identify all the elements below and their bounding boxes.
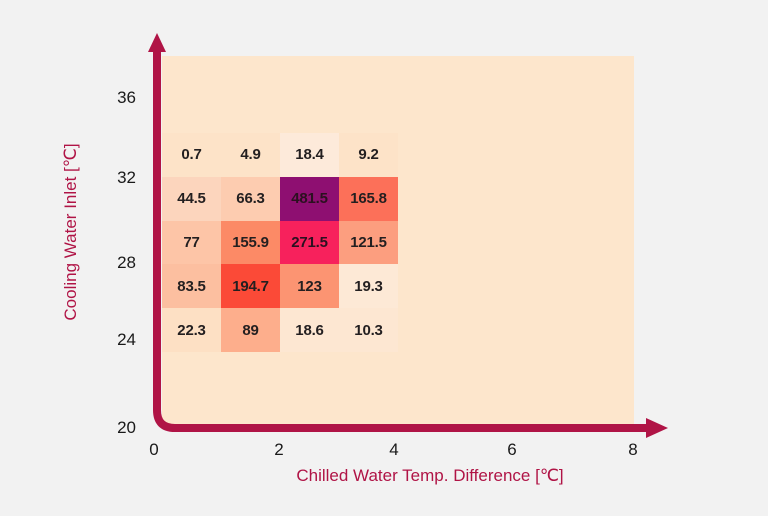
heatmap-cell: 194.7 — [221, 264, 280, 308]
cell-value: 18.6 — [295, 322, 323, 339]
heatmap-cell: 155.9 — [221, 221, 280, 265]
heatmap-cell: 121.5 — [339, 221, 398, 265]
cell-value: 9.2 — [358, 146, 378, 163]
heatmap-cell: 4.9 — [221, 133, 280, 177]
heatmap-cell: 83.5 — [162, 264, 221, 308]
cell-value: 194.7 — [232, 278, 269, 295]
heatmap-cell: 77 — [162, 221, 221, 265]
cell-value: 18.4 — [295, 146, 323, 163]
cell-value: 121.5 — [350, 234, 387, 251]
cell-value: 44.5 — [177, 190, 205, 207]
heatmap-grid: 0.7 4.9 18.4 9.2 44.5 66.3 481.5 165.8 7… — [162, 133, 398, 352]
cell-value: 19.3 — [354, 278, 382, 295]
x-tick-label-0: 0 — [134, 440, 174, 460]
heatmap-cell: 66.3 — [221, 177, 280, 221]
heatmap-cell: 22.3 — [162, 308, 221, 352]
cell-value: 155.9 — [232, 234, 269, 251]
y-tick-label-20: 20 — [96, 418, 136, 438]
heatmap-cell: 123 — [280, 264, 339, 308]
heatmap-cell: 19.3 — [339, 264, 398, 308]
heatmap-cell: 89 — [221, 308, 280, 352]
x-tick-label-2: 2 — [259, 440, 299, 460]
heatmap-cell: 18.6 — [280, 308, 339, 352]
cell-value: 10.3 — [354, 322, 382, 339]
cell-value: 4.9 — [240, 146, 260, 163]
cell-value: 165.8 — [350, 190, 387, 207]
cell-value: 66.3 — [236, 190, 264, 207]
heatmap-cell: 0.7 — [162, 133, 221, 177]
cell-value: 123 — [297, 278, 321, 295]
x-tick-label-6: 6 — [492, 440, 532, 460]
heatmap-cell: 9.2 — [339, 133, 398, 177]
cell-value: 83.5 — [177, 278, 205, 295]
cell-value: 0.7 — [181, 146, 201, 163]
y-axis-title: Cooling Water Inlet [℃] — [61, 117, 81, 347]
heatmap-cell: 271.5 — [280, 221, 339, 265]
y-tick-label-36: 36 — [96, 88, 136, 108]
cell-value: 89 — [242, 322, 258, 339]
heatmap-cell: 10.3 — [339, 308, 398, 352]
cell-value: 22.3 — [177, 322, 205, 339]
y-tick-label-28: 28 — [96, 253, 136, 273]
x-axis-title: Chilled Water Temp. Difference [℃] — [180, 466, 680, 486]
heatmap-cell: 481.5 — [280, 177, 339, 221]
y-tick-label-24: 24 — [96, 330, 136, 350]
heatmap-cell: 165.8 — [339, 177, 398, 221]
cell-value: 481.5 — [291, 190, 328, 207]
heatmap-chart: 0.7 4.9 18.4 9.2 44.5 66.3 481.5 165.8 7… — [0, 0, 768, 516]
heatmap-cell: 18.4 — [280, 133, 339, 177]
x-tick-label-8: 8 — [613, 440, 653, 460]
heatmap-cell: 44.5 — [162, 177, 221, 221]
cell-value: 77 — [183, 234, 199, 251]
x-tick-label-4: 4 — [374, 440, 414, 460]
y-tick-label-32: 32 — [96, 168, 136, 188]
cell-value: 271.5 — [291, 234, 328, 251]
